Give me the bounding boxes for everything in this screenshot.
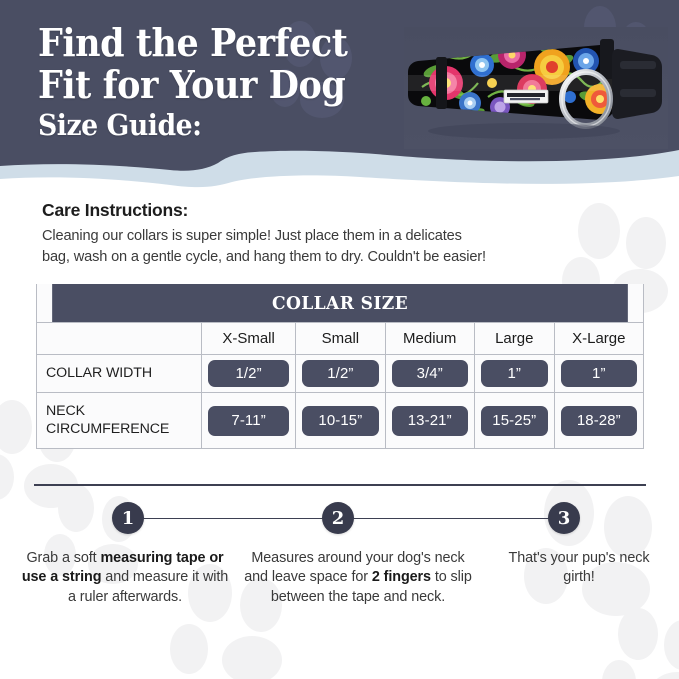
table-caption: COLLAR SIZE (52, 284, 628, 322)
step-2-bold: 2 fingers (372, 569, 431, 585)
step-description-1: Grab a soft measuring tape or use a stri… (16, 549, 234, 607)
table-cell: 15-25” (474, 393, 554, 448)
page-title: Find the Perfect Fit for Your Dog Size G… (38, 24, 374, 140)
value-pill: 3/4” (392, 360, 468, 387)
table-cell: 1/2” (295, 355, 384, 392)
value-pill: 18-28” (561, 406, 637, 436)
step-1-pre: Grab a soft (26, 550, 100, 566)
collar-slider (600, 39, 614, 79)
value-pill: 1” (481, 360, 548, 387)
table-cell: 18-28” (554, 393, 643, 448)
section-divider (34, 484, 646, 486)
step-description-2: Measures around your dog's neck and leav… (239, 549, 477, 607)
table-row: NECK CIRCUMFERENCE 7-11” 10-15” 13-21” 1… (37, 392, 643, 448)
column-header-x-large: X-Large (554, 323, 643, 354)
care-line-2: bag, wash on a gentle cycle, and hang th… (42, 247, 642, 268)
column-header-medium: Medium (385, 323, 474, 354)
product-image-dog-collar (404, 27, 668, 149)
title-line-3: Size Guide: (38, 111, 347, 140)
table-cell: 1” (554, 355, 643, 392)
collar-size-table: COLLAR SIZE X-Small Small Medium Large X… (36, 284, 644, 449)
table-corner-cell (37, 323, 201, 354)
size-guide-infographic: Find the Perfect Fit for Your Dog Size G… (0, 0, 679, 679)
table-cell: 3/4” (385, 355, 474, 392)
brand-label-tag (504, 90, 548, 103)
table-cell: 13-21” (385, 393, 474, 448)
step-connector-line (130, 518, 338, 519)
table-cell: 1/2” (201, 355, 295, 392)
table-header-row: X-Small Small Medium Large X-Large (37, 322, 643, 354)
step-3-pre: That's your pup's neck girth! (509, 550, 650, 585)
value-pill: 15-25” (481, 406, 548, 436)
collar-buckle (612, 49, 662, 119)
step-marker-1: 1 (112, 502, 144, 534)
paw-icon (600, 600, 679, 679)
value-pill: 10-15” (302, 406, 378, 436)
step-marker-2: 2 (322, 502, 354, 534)
row-label-line-1: NECK (46, 403, 169, 420)
value-pill: 1” (561, 360, 637, 387)
table-cell: 1” (474, 355, 554, 392)
value-pill: 7-11” (208, 406, 289, 436)
title-line-1: Find the Perfect (38, 24, 347, 62)
steps-descriptions: Grab a soft measuring tape or use a stri… (0, 549, 679, 607)
step-connector-line (339, 518, 564, 519)
care-instructions-section: Care Instructions: Cleaning our collars … (42, 200, 642, 267)
care-instructions-title: Care Instructions: (42, 200, 642, 221)
step-description-3: That's your pup's neck girth! (491, 549, 667, 607)
value-pill: 1/2” (208, 360, 289, 387)
row-label-collar-width: COLLAR WIDTH (37, 355, 201, 392)
step-marker-3: 3 (548, 502, 580, 534)
column-header-x-small: X-Small (201, 323, 295, 354)
row-label-line-2: CIRCUMFERENCE (46, 421, 169, 438)
table-cell: 7-11” (201, 393, 295, 448)
care-instructions-body: Cleaning our collars is super simple! Ju… (42, 226, 642, 267)
value-pill: 1/2” (302, 360, 378, 387)
title-line-2: Fit for Your Dog (38, 66, 347, 104)
column-header-small: Small (295, 323, 384, 354)
column-header-large: Large (474, 323, 554, 354)
row-label-neck-circumference: NECK CIRCUMFERENCE (37, 393, 201, 448)
value-pill: 13-21” (392, 406, 468, 436)
header-banner: Find the Perfect Fit for Your Dog Size G… (0, 0, 679, 186)
table-row: COLLAR WIDTH 1/2” 1/2” 3/4” 1” 1” (37, 354, 643, 392)
collar-keeper (436, 57, 447, 109)
table-cell: 10-15” (295, 393, 384, 448)
care-line-1: Cleaning our collars is super simple! Ju… (42, 226, 642, 247)
